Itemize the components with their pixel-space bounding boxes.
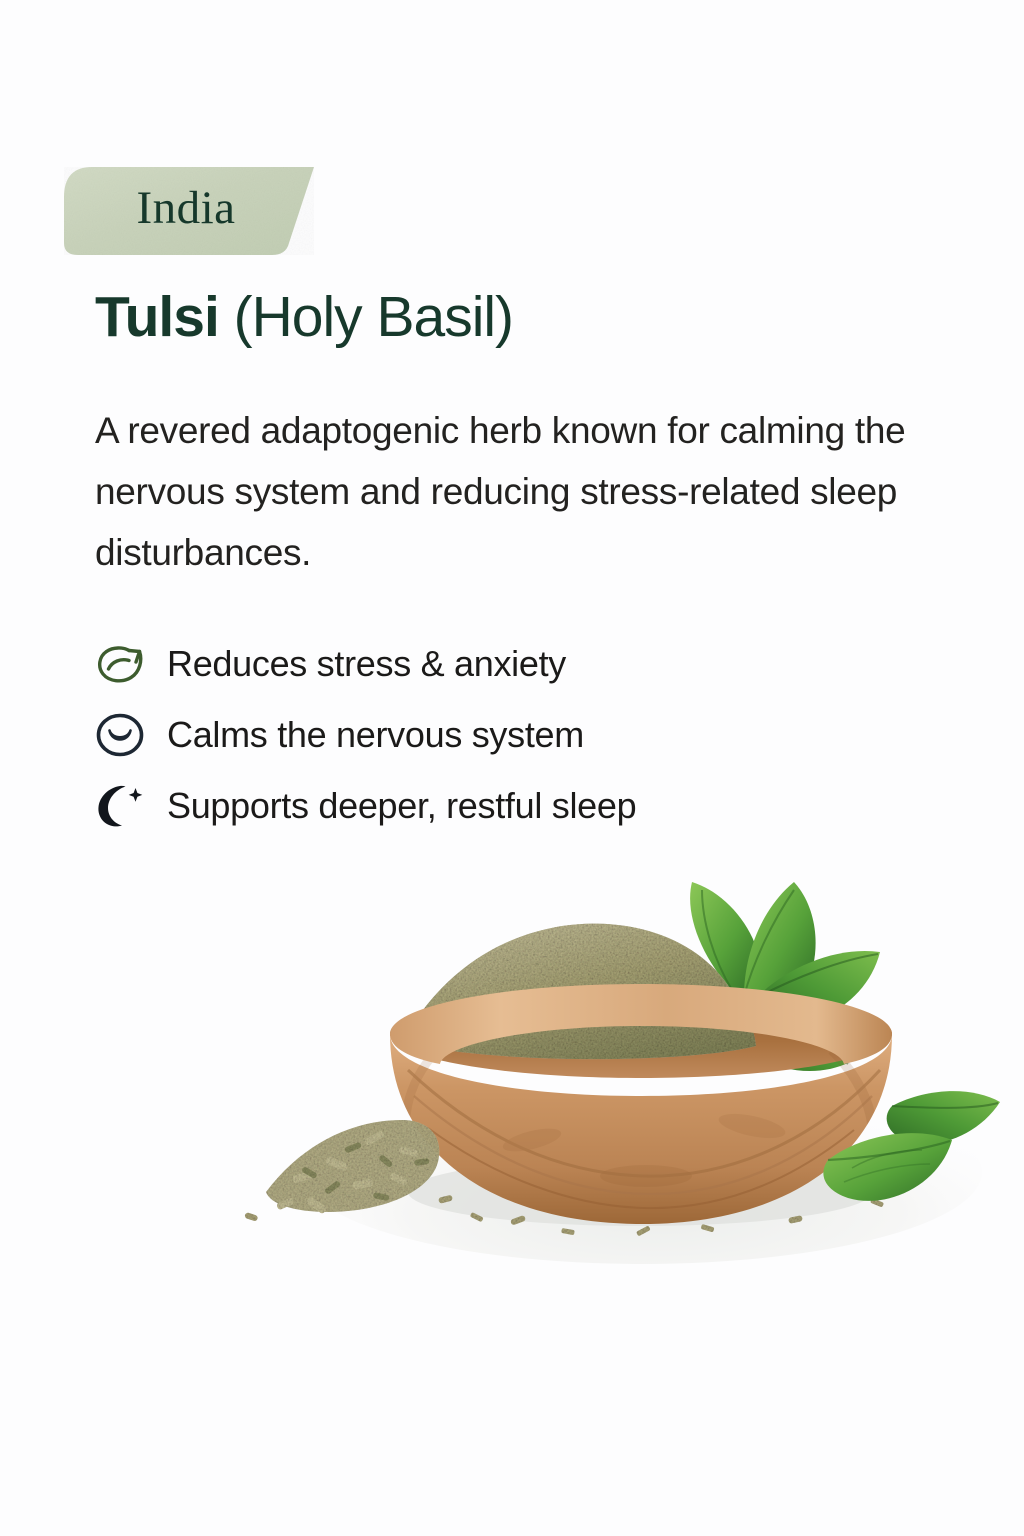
benefit-label: Supports deeper, restful sleep <box>167 788 636 824</box>
tulsi-bowl-photo <box>232 820 1024 1270</box>
photo-illustration <box>232 820 1024 1270</box>
herb-info-card: India Tulsi (Holy Basil) A revered adapt… <box>0 0 1024 1536</box>
title-secondary: (Holy Basil) <box>234 285 513 349</box>
title-primary: Tulsi <box>95 285 234 349</box>
badge-label: India <box>58 167 314 255</box>
benefit-label: Calms the nervous system <box>167 717 584 753</box>
benefit-item-stress: Reduces stress & anxiety <box>95 628 955 699</box>
benefit-item-calm: Calms the nervous system <box>95 699 955 770</box>
benefits-list: Reduces stress & anxiety Calms the nervo… <box>95 628 955 841</box>
region-badge: India <box>58 167 314 255</box>
benefit-label: Reduces stress & anxiety <box>167 646 566 682</box>
page-title: Tulsi (Holy Basil) <box>95 286 513 350</box>
moon-star-icon <box>95 782 167 830</box>
calm-face-icon <box>95 712 167 758</box>
description-text: A revered adaptogenic herb known for cal… <box>95 400 975 583</box>
leaf-icon <box>95 642 167 686</box>
